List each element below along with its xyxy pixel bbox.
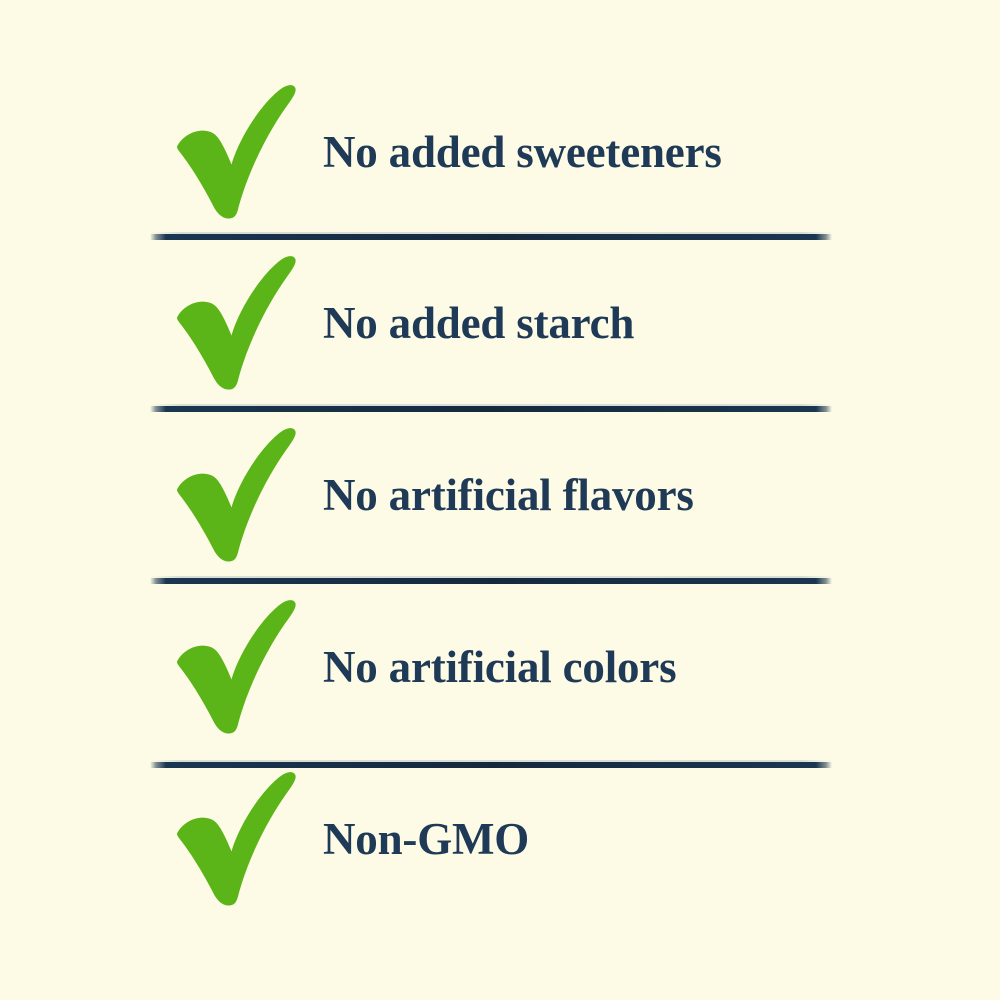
green-checkmark-icon: [163, 423, 301, 563]
list-item: No added sweeteners: [0, 66, 1000, 237]
list-divider: [150, 234, 832, 240]
list-item-label: No artificial colors: [323, 644, 676, 691]
green-checkmark-icon: [163, 595, 301, 735]
green-checkmark-icon: [163, 767, 301, 907]
list-item-label: No artificial flavors: [323, 472, 694, 519]
list-divider: [150, 762, 832, 768]
list-item-label: No added sweeteners: [323, 129, 722, 176]
list-item: No artificial flavors: [0, 409, 1000, 581]
list-item: No added starch: [0, 237, 1000, 409]
list-divider: [150, 578, 832, 584]
list-item: Non-GMO: [0, 753, 1000, 925]
green-checkmark-icon: [163, 251, 301, 391]
list-item-label: No added starch: [323, 300, 634, 347]
list-divider: [150, 406, 832, 412]
benefits-checklist-panel: No added sweeteners No added starch No a…: [0, 0, 1000, 1000]
list-item-label: Non-GMO: [323, 816, 529, 863]
list-item: No artificial colors: [0, 581, 1000, 753]
green-checkmark-icon: [163, 80, 301, 220]
checklist: No added sweeteners No added starch No a…: [0, 0, 1000, 1000]
